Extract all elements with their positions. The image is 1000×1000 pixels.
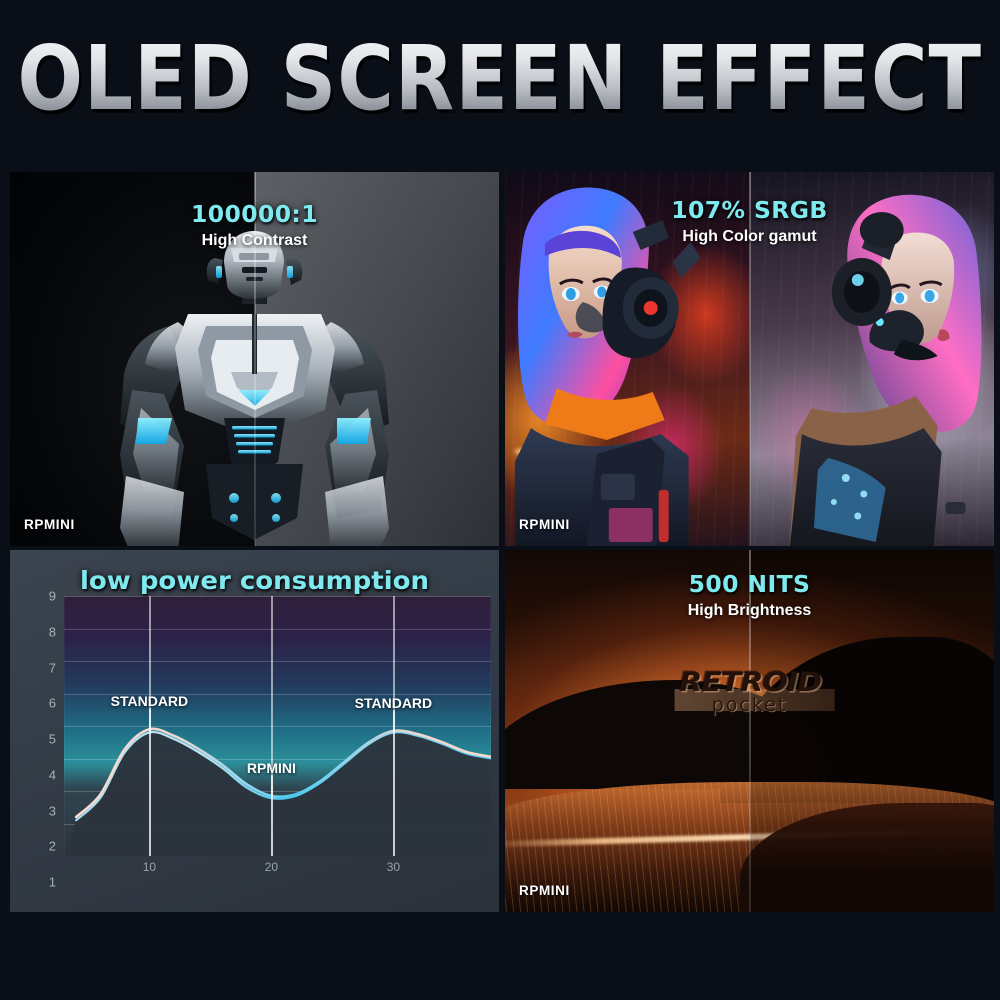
watermark-rpmini: RPMINI (519, 517, 570, 532)
chart-y-tick: 2 (49, 839, 56, 854)
chart-y-tick: 3 (49, 803, 56, 818)
chart-x-tick: 20 (265, 860, 278, 874)
chart-x-axis: 102030 (64, 858, 491, 880)
page-title: OLED SCREEN EFFECT (18, 33, 983, 122)
chart-y-axis: 987654321 (36, 596, 60, 882)
power-caption: low power consumption (10, 566, 499, 595)
chart-annotation-stick (149, 708, 151, 856)
chart-y-tick: 5 (49, 732, 56, 747)
chart-y-tick: 6 (49, 696, 56, 711)
watermark-rpmini: RPMINI (24, 517, 75, 532)
gamut-washed-half (750, 172, 995, 546)
cyber-girl-right-illustration (750, 172, 995, 546)
feature-panel-grid: 100000:1 High Contrast RPMINI (10, 172, 990, 920)
panel-high-contrast[interactable]: 100000:1 High Contrast RPMINI (10, 172, 499, 546)
watermark-rpmini: RPMINI (519, 883, 570, 898)
chart-y-tick: 7 (49, 660, 56, 675)
gamut-vivid-half: RPMINI (505, 172, 750, 546)
panel-low-power[interactable]: low power consumption 987654321 (10, 550, 499, 912)
chart-annotation-label: STANDARD (355, 695, 433, 711)
comparison-seam (749, 550, 751, 912)
page-header: OLED SCREEN EFFECT (0, 42, 1000, 114)
chart-y-tick: 4 (49, 767, 56, 782)
logo-line-retroid: RETROID (678, 667, 820, 698)
chart-y-tick: 1 (49, 875, 56, 890)
cyber-girl-left-illustration (505, 172, 750, 546)
power-headline: low power consumption (10, 566, 499, 595)
comparison-seam (254, 172, 256, 546)
chart-plot-area (64, 596, 491, 856)
chart-curves (64, 596, 491, 856)
brightness-dim-half (750, 550, 995, 912)
chart-annotation-label: STANDARD (111, 693, 189, 709)
panel-color-gamut[interactable]: RPMINI (505, 172, 994, 546)
chart-annotation-stick (393, 710, 395, 856)
chart-y-tick: 8 (49, 624, 56, 639)
chart-x-tick: 30 (387, 860, 400, 874)
retroid-pocket-logo: RETROID pocket (686, 667, 813, 716)
chart-y-tick: 9 (49, 589, 56, 604)
power-consumption-chart: 987654321 (36, 596, 491, 882)
chart-annotation-label: RPMINI (247, 760, 296, 776)
comparison-seam (749, 172, 751, 546)
panel-high-brightness[interactable]: RETROID pocket 500 NITS High Brightness … (505, 550, 994, 912)
chart-x-tick: 10 (143, 860, 156, 874)
chart-annotation-stick (271, 775, 273, 856)
